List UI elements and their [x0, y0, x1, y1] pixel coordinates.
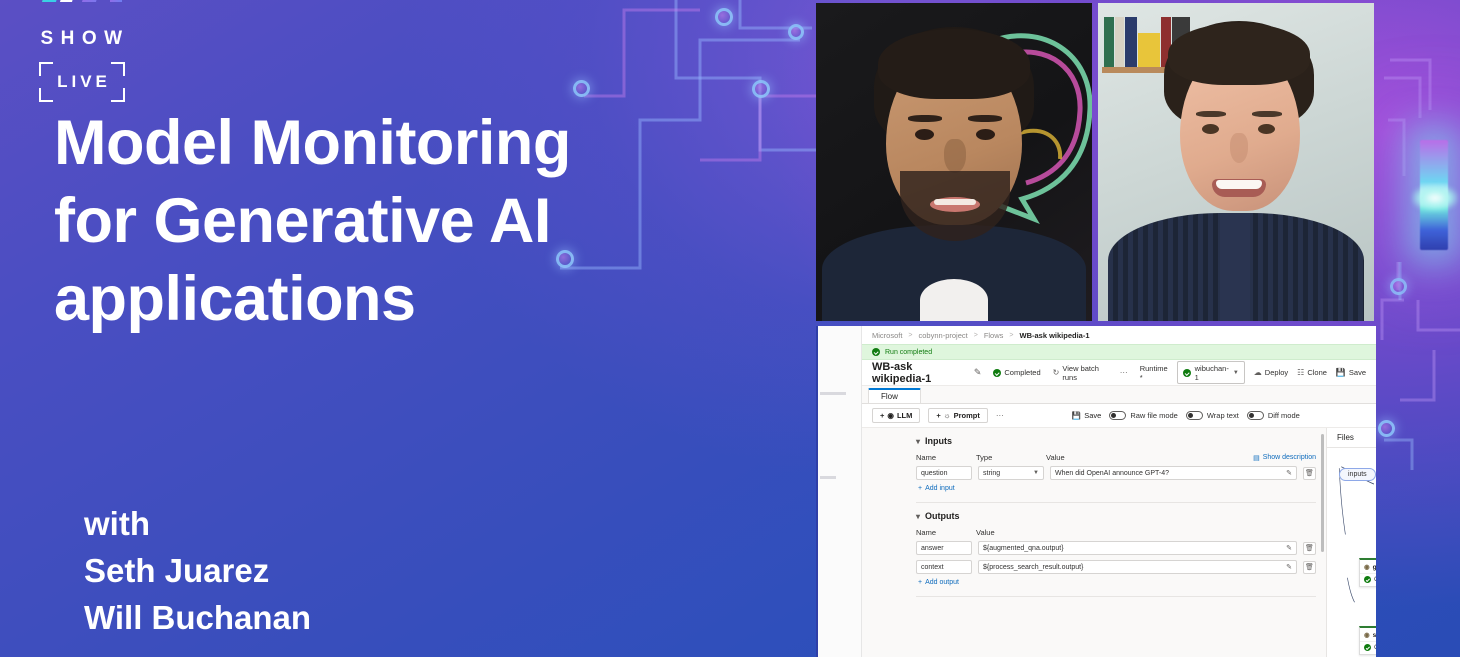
diff-mode-toggle[interactable]: Diff mode [1247, 411, 1300, 420]
wrap-text-toggle[interactable]: Wrap text [1186, 411, 1239, 420]
expand-editor-icon[interactable]: ✎ [1286, 469, 1292, 477]
inputs-col-value: Value [1046, 453, 1253, 462]
expand-editor-icon[interactable]: ✎ [1286, 544, 1292, 552]
inputs-section-title: Inputs [925, 436, 952, 446]
raw-file-mode-toggle[interactable]: Raw file mode [1109, 411, 1178, 420]
add-prompt-button[interactable]: + ☼ Prompt [928, 408, 988, 423]
flow-panes: ▾ Inputs Name Type Value ▤ Show descript… [906, 428, 1376, 657]
output-value-text: ${process_search_result.output} [983, 564, 1083, 571]
command-overflow-button[interactable]: ··· [1120, 368, 1128, 377]
graph-node-status: Comp... [1374, 576, 1376, 583]
graph-node-card[interactable]: ◉ get_... Comp... [1359, 558, 1376, 587]
add-llm-button[interactable]: + ◉ LLM [872, 408, 920, 423]
input-type-value: string [983, 470, 1000, 477]
hair-top [878, 29, 1030, 99]
runtime-label: Runtime * [1140, 364, 1168, 382]
input-row: question string ▼ When did OpenAI announ… [916, 466, 1316, 480]
eye-right [976, 129, 995, 140]
breadcrumb-item-flows[interactable]: Flows [984, 331, 1004, 340]
add-input-label: Add input [925, 485, 955, 492]
toolbar-overflow-button[interactable]: ··· [996, 411, 1004, 420]
eye-right [1258, 124, 1275, 134]
diff-mode-label: Diff mode [1268, 411, 1300, 420]
eyebrow-right [1252, 111, 1282, 117]
section-divider [916, 502, 1316, 503]
add-input-link[interactable]: + Add input [918, 485, 1316, 492]
add-output-label: Add output [925, 579, 959, 586]
completed-label: Completed [1004, 368, 1040, 377]
presenter-video-seth-juarez [816, 3, 1092, 321]
shared-screen-promptflow[interactable]: Microsoft > cobynn-project > Flows > WB-… [816, 326, 1376, 657]
chevron-down-icon[interactable]: ▾ [916, 512, 920, 521]
shirt-placket [1220, 213, 1250, 321]
inputs-column-headers: Name Type Value ▤ Show description [916, 453, 1316, 462]
run-status-text: Run completed [885, 349, 932, 356]
rail-item[interactable] [820, 476, 836, 479]
output-name-field[interactable]: answer [916, 541, 972, 555]
breadcrumb-separator-icon: > [1009, 332, 1013, 339]
eye-left [915, 129, 934, 140]
flow-toolbar: + ◉ LLM + ☼ Prompt ··· 💾 Save Raw file m… [862, 404, 1376, 428]
output-name-field[interactable]: context [916, 560, 972, 574]
nose [1230, 133, 1248, 163]
section-divider [916, 596, 1316, 597]
breadcrumb-item-microsoft[interactable]: Microsoft [872, 331, 902, 340]
breadcrumb-separator-icon: > [908, 332, 912, 339]
save-icon: 💾 [1336, 368, 1346, 377]
completed-status-badge: Completed [993, 368, 1040, 377]
expand-editor-icon[interactable]: ✎ [1286, 563, 1292, 571]
breadcrumb-separator-icon: > [974, 332, 978, 339]
outputs-section-header[interactable]: ▾ Outputs [916, 511, 1316, 521]
plus-icon: + [880, 411, 884, 420]
wrap-text-label: Wrap text [1207, 411, 1239, 420]
graph-node-status-row: Comp... [1360, 573, 1376, 586]
presenter-name-2: Will Buchanan [84, 594, 311, 641]
deploy-label: Deploy [1265, 368, 1288, 377]
presenter-name-1: Seth Juarez [84, 547, 311, 594]
input-value-text: When did OpenAI announce GPT-4? [1055, 470, 1169, 477]
graph-node-label: get_... [1373, 564, 1376, 571]
ai-monogram-icon [22, 0, 142, 26]
title-line-2: for Generative AI [54, 182, 774, 260]
flow-graph-pane: Files inputs ◉ get_... [1326, 428, 1376, 657]
eyebrow-right [968, 115, 1002, 122]
chevron-down-icon: ▼ [1033, 470, 1039, 476]
title-line-1: Model Monitoring [54, 104, 774, 182]
circuit-node-dot [1378, 420, 1395, 437]
show-description-label: Show description [1263, 454, 1316, 461]
outputs-column-headers: Name Value [916, 528, 1316, 537]
runtime-selector[interactable]: wibuchan-1 ▼ [1177, 361, 1245, 384]
delete-input-button[interactable]: 🗑 [1303, 467, 1316, 480]
plus-icon: + [918, 579, 922, 586]
outputs-col-name: Name [916, 528, 976, 537]
flow-title: WB-ask wikipedia-1 [872, 361, 962, 385]
toggle-switch[interactable] [1186, 411, 1203, 420]
command-bar-right: Runtime * wibuchan-1 ▼ ☁ Deploy ☷ Clone [1140, 361, 1366, 384]
circuit-node-dot [1390, 278, 1407, 295]
eyebrow-left [908, 115, 942, 122]
output-row: context ${process_search_result.output} … [916, 560, 1316, 574]
graph-node-status: Comp... [1374, 644, 1376, 651]
title-line-3: applications [54, 260, 774, 338]
with-label: with [84, 500, 311, 547]
left-nav-rail[interactable] [818, 326, 862, 657]
toggle-switch[interactable] [1247, 411, 1264, 420]
ai-show-logo: SHOW LIVE [22, 0, 142, 102]
raw-file-mode-label: Raw file mode [1130, 411, 1178, 420]
eyebrow-left [1196, 111, 1226, 117]
circuit-node-dot [752, 80, 770, 98]
add-prompt-label: Prompt [954, 411, 980, 420]
breadcrumb-item-project[interactable]: cobynn-project [919, 331, 968, 340]
circuit-node-dot [573, 80, 590, 97]
graph-canvas[interactable]: inputs ◉ get_... Comp... [1327, 448, 1376, 657]
input-name-field[interactable]: question [916, 466, 972, 480]
output-value-text: ${augmented_qna.output} [983, 545, 1064, 552]
view-batch-runs-button[interactable]: ↻ View batch runs [1053, 364, 1108, 382]
add-llm-label: LLM [897, 411, 912, 420]
tab-flow[interactable]: Flow [868, 388, 921, 403]
description-icon: ▤ [1253, 454, 1260, 462]
tab-files[interactable]: Files [1327, 428, 1376, 448]
check-circle-icon [1364, 644, 1371, 651]
clone-label: Clone [1307, 368, 1327, 377]
episode-title: Model Monitoring for Generative AI appli… [54, 104, 774, 338]
history-icon: ↻ [1053, 368, 1060, 377]
save-button-toolbar[interactable]: 💾 Save [1072, 411, 1101, 420]
check-circle-icon [1183, 369, 1191, 377]
check-circle-icon [1364, 576, 1371, 583]
editor-scrollbar[interactable] [1321, 434, 1324, 552]
promptflow-body: Microsoft > cobynn-project > Flows > WB-… [862, 326, 1376, 657]
command-bar: WB-ask wikipedia-1 ✎ Completed ↻ View ba… [862, 360, 1376, 386]
output-value-field[interactable]: ${process_search_result.output} ✎ [978, 560, 1297, 574]
nose [944, 139, 966, 173]
logo-live-text: LIVE [39, 62, 125, 102]
breadcrumb[interactable]: Microsoft > cobynn-project > Flows > WB-… [862, 326, 1376, 344]
save-icon: 💾 [1072, 411, 1081, 420]
trash-icon: 🗑 [1305, 469, 1314, 477]
person-figure [816, 3, 1092, 321]
logo-show-text: SHOW [22, 28, 142, 50]
collar [920, 279, 988, 321]
save-label: Save [1349, 368, 1366, 377]
node-type-icon: ◉ [1364, 563, 1370, 571]
flow-editor-pane: ▾ Inputs Name Type Value ▤ Show descript… [906, 428, 1326, 657]
prompt-icon: ☼ [944, 411, 951, 420]
graph-node-card[interactable]: ◉ sear... Comp... [1359, 626, 1376, 655]
logo-live-badge: LIVE [39, 62, 125, 102]
circuit-node-dot [715, 8, 733, 26]
outputs-section-title: Outputs [925, 511, 960, 521]
view-batch-runs-label: View batch runs [1062, 364, 1107, 382]
tab-strip: Flow [862, 386, 1376, 404]
teeth [1216, 180, 1262, 189]
rail-item[interactable] [820, 392, 846, 395]
runtime-value: wibuchan-1 [1195, 364, 1229, 382]
run-status-banner: Run completed [862, 344, 1376, 360]
hair-top [1168, 23, 1310, 85]
node-type-icon: ◉ [1364, 631, 1370, 639]
output-value-field[interactable]: ${augmented_qna.output} ✎ [978, 541, 1297, 555]
pencil-icon[interactable]: ✎ [974, 367, 982, 378]
inputs-col-type: Type [976, 453, 1046, 462]
check-circle-icon [993, 369, 1001, 377]
eye-left [1202, 124, 1219, 134]
clone-button[interactable]: ☷ Clone [1297, 368, 1327, 377]
graph-node-title-row: ◉ get_... [1360, 560, 1376, 573]
add-output-link[interactable]: + Add output [918, 579, 1316, 586]
person-figure [1098, 3, 1374, 321]
chevron-down-icon[interactable]: ▾ [916, 437, 920, 446]
toggle-switch[interactable] [1109, 411, 1126, 420]
circuit-node-dot [788, 24, 804, 40]
graph-node-label: sear... [1373, 632, 1376, 639]
plus-icon: + [918, 485, 922, 492]
save-button-top[interactable]: 💾 Save [1336, 368, 1366, 377]
clone-icon: ☷ [1297, 368, 1304, 377]
trash-icon: 🗑 [1305, 544, 1314, 552]
delete-output-button[interactable]: 🗑 [1303, 542, 1316, 555]
outputs-col-value: Value [976, 528, 1316, 537]
input-value-field[interactable]: When did OpenAI announce GPT-4? ✎ [1050, 466, 1297, 480]
graph-node-status-row: Comp... [1360, 641, 1376, 654]
output-row: answer ${augmented_qna.output} ✎ 🗑 [916, 541, 1316, 555]
inputs-col-name: Name [916, 453, 976, 462]
plus-icon: + [936, 411, 940, 420]
input-type-select[interactable]: string ▼ [978, 466, 1044, 480]
delete-output-button[interactable]: 🗑 [1303, 561, 1316, 574]
check-circle-icon [872, 348, 880, 356]
chevron-down-icon: ▼ [1233, 370, 1239, 376]
deploy-button[interactable]: ☁ Deploy [1254, 368, 1288, 377]
graph-node-title-row: ◉ sear... [1360, 628, 1376, 641]
teeth [934, 199, 976, 205]
glow-core-decoration [1412, 185, 1458, 211]
show-description-link[interactable]: ▤ Show description [1253, 454, 1316, 462]
inputs-section-header[interactable]: ▾ Inputs [916, 436, 1316, 446]
presenter-video-will-buchanan [1098, 3, 1374, 321]
broadcast-stage: SHOW LIVE Model Monitoring for Generativ… [0, 0, 1460, 657]
files-tab-label: Files [1337, 433, 1354, 442]
graph-node-inputs[interactable]: inputs [1339, 468, 1376, 481]
trash-icon: 🗑 [1305, 563, 1314, 571]
save-label: Save [1084, 411, 1101, 420]
deploy-icon: ☁ [1254, 368, 1262, 377]
breadcrumb-current: WB-ask wikipedia-1 [1020, 331, 1090, 340]
presenter-credits: with Seth Juarez Will Buchanan [84, 500, 311, 641]
llm-icon: ◉ [887, 411, 894, 420]
